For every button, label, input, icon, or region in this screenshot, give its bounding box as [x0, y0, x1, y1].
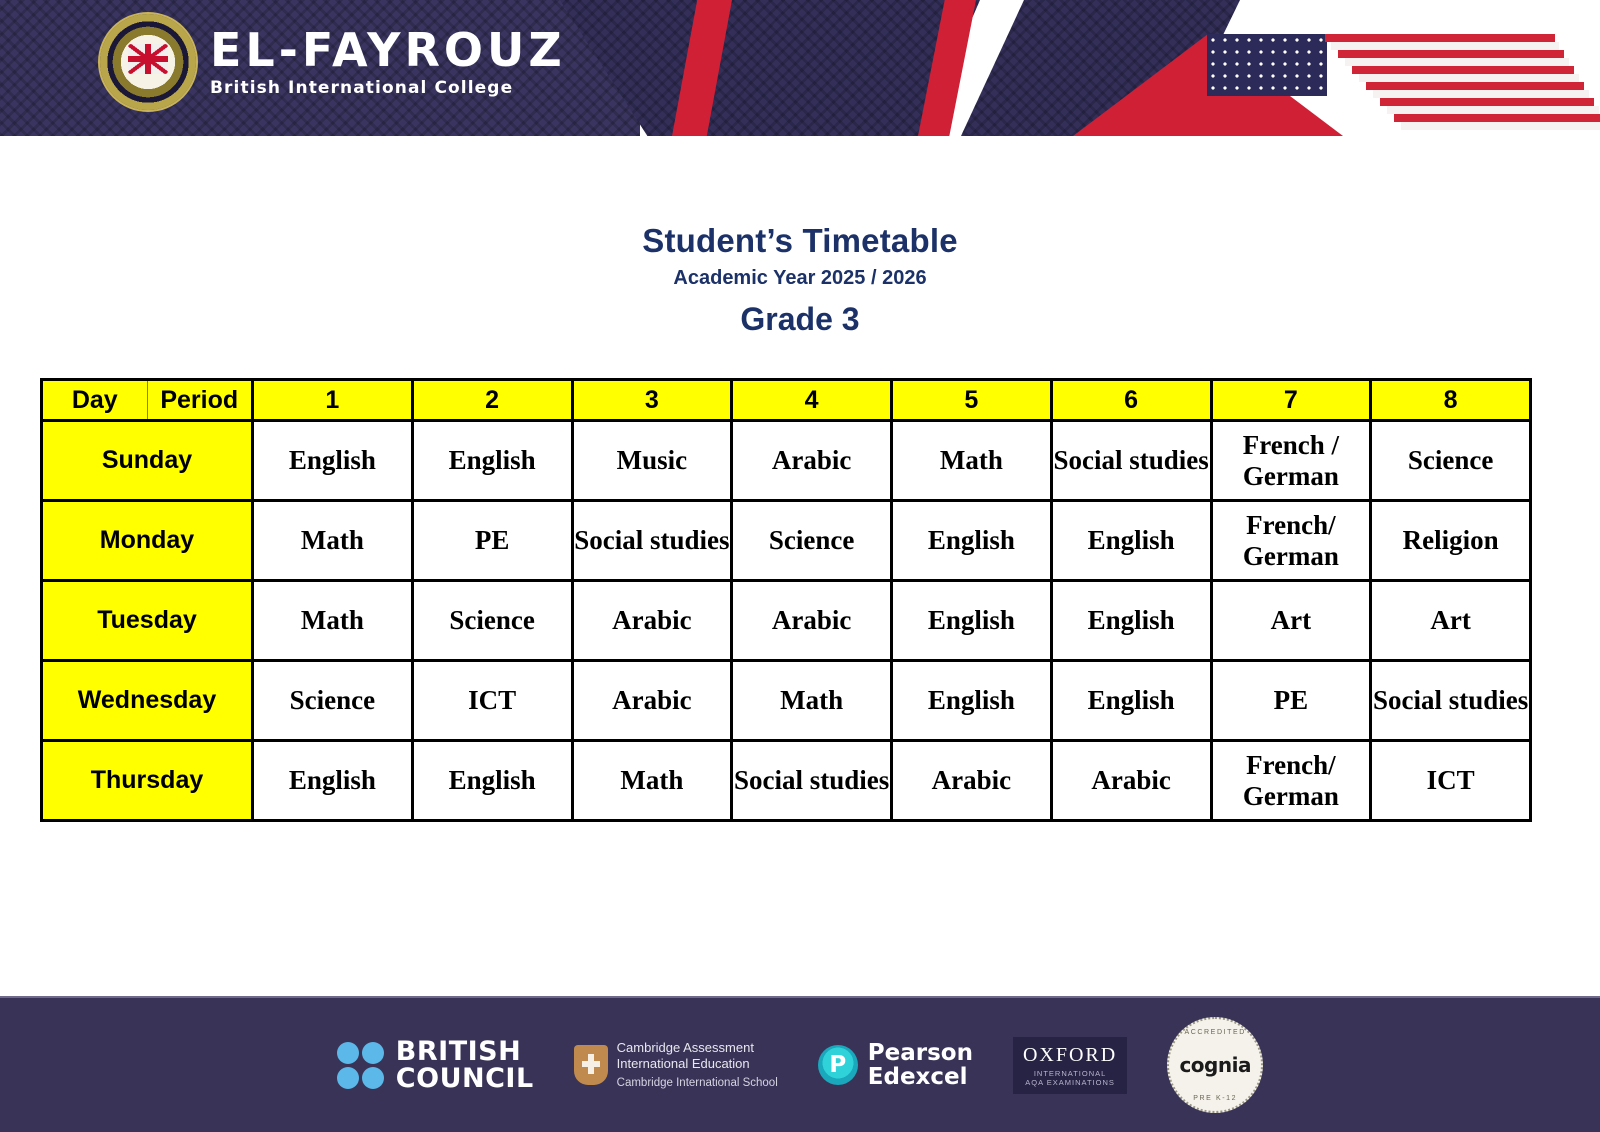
cell-thursday-5: Arabic — [892, 741, 1052, 821]
cell-thursday-3: Math — [572, 741, 732, 821]
header-label-period: Period — [148, 381, 252, 419]
oxford-line3: AQA EXAMINATIONS — [1023, 1078, 1117, 1087]
british-council-line2: COUNCIL — [396, 1065, 534, 1092]
cell-wednesday-7: PE — [1211, 661, 1371, 741]
cambridge-line1: Cambridge Assessment — [617, 1040, 778, 1056]
day-label-sunday: Sunday — [42, 421, 253, 501]
cambridge-assessment-logo: Cambridge Assessment International Educa… — [574, 1040, 778, 1090]
cell-monday-8: Religion — [1371, 501, 1531, 581]
pearson-line1: Pearson — [868, 1041, 973, 1065]
cell-monday-1: Math — [253, 501, 413, 581]
pearson-p-icon: P — [818, 1045, 858, 1085]
header-cell-period-5: 5 — [892, 380, 1052, 421]
cell-sunday-8: Science — [1371, 421, 1531, 501]
header-cell-period-1: 1 — [253, 380, 413, 421]
header-cell-day-period: Day Period — [42, 380, 253, 421]
cell-tuesday-3: Arabic — [572, 581, 732, 661]
day-label-tuesday: Tuesday — [42, 581, 253, 661]
british-council-dots-icon — [337, 1042, 384, 1089]
pearson-edexcel-logo: P Pearson Edexcel — [818, 1041, 973, 1089]
school-logo: EL-FAYROUZ British International College — [100, 14, 566, 110]
timetable-header-row: Day Period 1 2 3 4 5 6 7 8 — [42, 380, 1531, 421]
cognia-prek12-text: PRE K-12 — [1169, 1095, 1261, 1102]
page-title: Student’s Timetable — [0, 222, 1600, 260]
cell-monday-3: Social studies — [572, 501, 732, 581]
cell-wednesday-8: Social studies — [1371, 661, 1531, 741]
header-cell-period-8: 8 — [1371, 380, 1531, 421]
cell-thursday-4: Social studies — [732, 741, 892, 821]
cambridge-line3: Cambridge International School — [617, 1076, 778, 1090]
british-council-line1: BRITISH — [396, 1038, 534, 1065]
cambridge-shield-icon — [574, 1045, 608, 1085]
cell-sunday-5: Math — [892, 421, 1052, 501]
cell-thursday-7: French/ German — [1211, 741, 1371, 821]
cell-monday-6: English — [1051, 501, 1211, 581]
table-row: Thursday English English Math Social stu… — [42, 741, 1531, 821]
cell-sunday-1: English — [253, 421, 413, 501]
day-label-monday: Monday — [42, 501, 253, 581]
cognia-wordmark: cognia — [1179, 1053, 1251, 1077]
cell-tuesday-4: Arabic — [732, 581, 892, 661]
header-cell-period-3: 3 — [572, 380, 732, 421]
cell-monday-4: Science — [732, 501, 892, 581]
cell-thursday-2: English — [412, 741, 572, 821]
day-label-wednesday: Wednesday — [42, 661, 253, 741]
cell-tuesday-8: Art — [1371, 581, 1531, 661]
header-label-day: Day — [43, 381, 148, 419]
usa-flag-canton-icon — [1207, 34, 1327, 96]
page-header-banner: EL-FAYROUZ British International College — [0, 0, 1600, 136]
academic-year-label: Academic Year 2025 / 2026 — [0, 267, 1600, 290]
oxford-line2: INTERNATIONAL — [1023, 1069, 1117, 1078]
header-cell-period-4: 4 — [732, 380, 892, 421]
day-label-thursday: Thursday — [42, 741, 253, 821]
cell-thursday-8: ICT — [1371, 741, 1531, 821]
accreditation-footer: BRITISH COUNCIL Cambridge Assessment Int… — [0, 996, 1600, 1132]
cognia-accredited-text: ACCREDITED — [1169, 1029, 1261, 1036]
oxford-aqa-logo: OXFORD INTERNATIONAL AQA EXAMINATIONS — [1013, 1037, 1127, 1094]
brand-name: EL-FAYROUZ — [210, 27, 566, 73]
cell-wednesday-6: English — [1051, 661, 1211, 741]
pearson-line2: Edexcel — [868, 1065, 973, 1089]
cell-monday-2: PE — [412, 501, 572, 581]
cell-sunday-4: Arabic — [732, 421, 892, 501]
brand-subtitle: British International College — [210, 78, 566, 98]
cell-sunday-6: Social studies — [1051, 421, 1211, 501]
header-cell-period-6: 6 — [1051, 380, 1211, 421]
header-cell-period-7: 7 — [1211, 380, 1371, 421]
cell-thursday-6: Arabic — [1051, 741, 1211, 821]
cambridge-line2: International Education — [617, 1056, 778, 1072]
cell-sunday-7: French / German — [1211, 421, 1371, 501]
cell-wednesday-4: Math — [732, 661, 892, 741]
cell-tuesday-6: English — [1051, 581, 1211, 661]
cell-tuesday-7: Art — [1211, 581, 1371, 661]
cell-sunday-3: Music — [572, 421, 732, 501]
cell-thursday-1: English — [253, 741, 413, 821]
cell-wednesday-5: English — [892, 661, 1052, 741]
usa-flag-stripes-icon — [1325, 34, 1597, 136]
cell-tuesday-2: Science — [412, 581, 572, 661]
table-row: Sunday English English Music Arabic Math… — [42, 421, 1531, 501]
cell-wednesday-3: Arabic — [572, 661, 732, 741]
timetable-container: Day Period 1 2 3 4 5 6 7 8 Sunday Englis… — [40, 378, 1532, 822]
oxford-line1: OXFORD — [1023, 1044, 1117, 1067]
cell-wednesday-2: ICT — [412, 661, 572, 741]
british-council-logo: BRITISH COUNCIL — [337, 1038, 534, 1092]
cognia-seal-logo: ACCREDITED cognia PRE K-12 — [1167, 1017, 1263, 1113]
table-row: Wednesday Science ICT Arabic Math Englis… — [42, 661, 1531, 741]
page-title-block: Student’s Timetable Academic Year 2025 /… — [0, 222, 1600, 338]
cell-sunday-2: English — [412, 421, 572, 501]
table-row: Monday Math PE Social studies Science En… — [42, 501, 1531, 581]
school-crest-icon — [100, 14, 196, 110]
header-cell-period-2: 2 — [412, 380, 572, 421]
timetable: Day Period 1 2 3 4 5 6 7 8 Sunday Englis… — [40, 378, 1532, 822]
cell-wednesday-1: Science — [253, 661, 413, 741]
grade-label: Grade 3 — [0, 301, 1600, 338]
table-row: Tuesday Math Science Arabic Arabic Engli… — [42, 581, 1531, 661]
cell-monday-7: French/ German — [1211, 501, 1371, 581]
cell-tuesday-5: English — [892, 581, 1052, 661]
cell-tuesday-1: Math — [253, 581, 413, 661]
cell-monday-5: English — [892, 501, 1052, 581]
